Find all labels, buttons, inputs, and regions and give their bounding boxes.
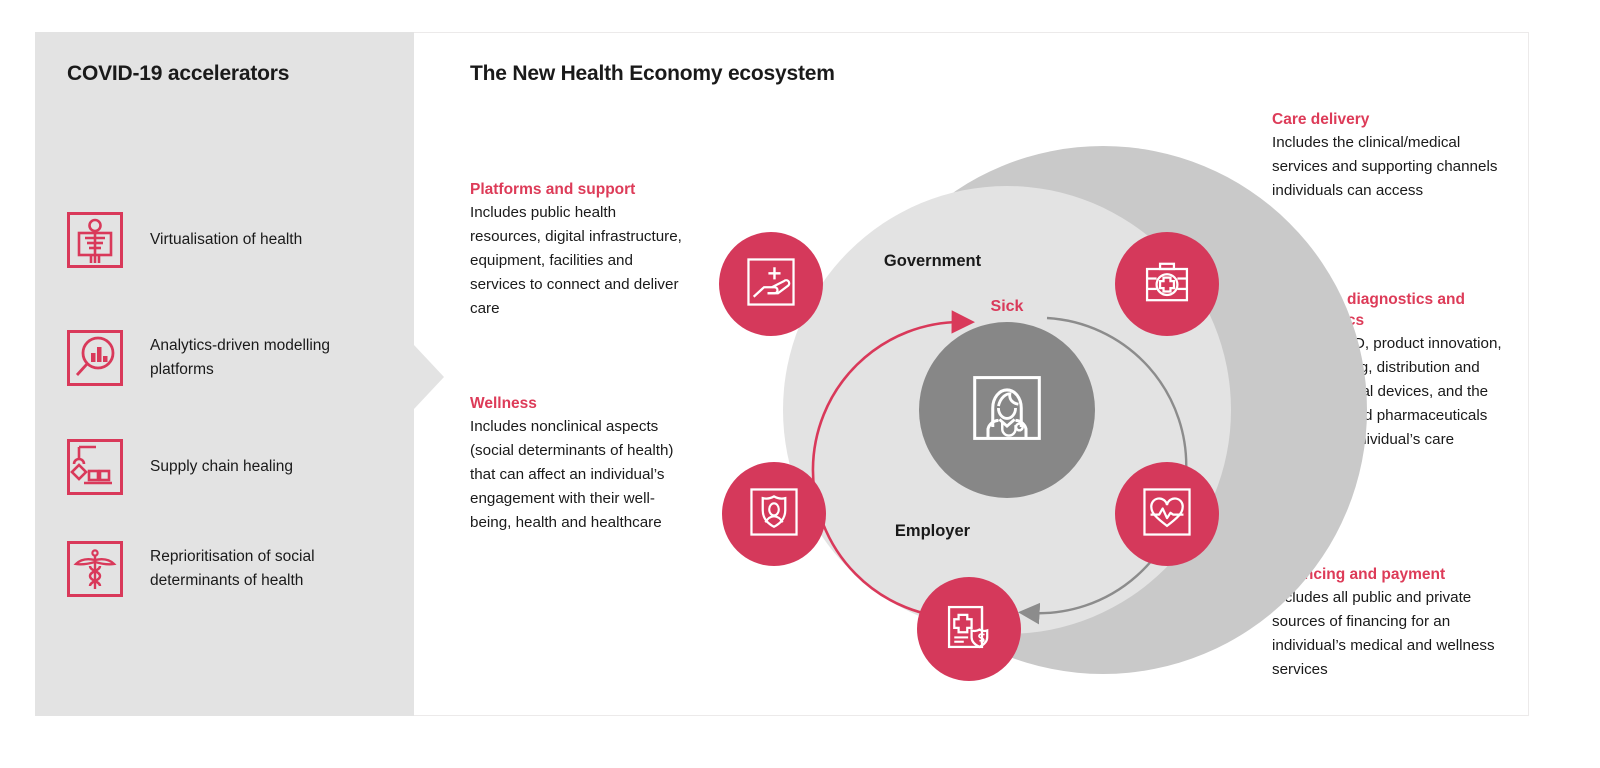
accelerator-label: Reprioritisation of social determinants … [150,545,396,593]
heart-pulse-icon [1141,486,1193,543]
badge-financing-and-payment[interactable] [917,577,1021,681]
caduceus-icon [66,540,124,598]
blurb-body: Includes all public and private sources … [1272,586,1510,682]
badge-wellness[interactable] [722,462,826,566]
health-economy-ecosystem-diagram: Government Employer Sick Well [700,130,1245,690]
accelerator-label: Virtualisation of health [150,228,302,252]
xray-skeleton-icon [66,211,124,269]
medical-kit-cross-icon [1141,256,1193,313]
supply-chain-crane-icon [66,438,124,496]
magnifier-bar-chart-icon [66,329,124,387]
sidebar-title: COVID-19 accelerators [67,62,289,86]
page-title: The New Health Economy ecosystem [470,62,835,86]
shield-person-icon [748,486,800,543]
sidebar-chevron-icon [414,345,444,409]
blurb-title: Care delivery [1272,109,1510,130]
medical-bill-dollar-icon [943,601,995,658]
covid-accelerators-sidebar: COVID-19 accelerators Virtualisation of … [35,32,414,716]
state-label-sick: Sick [962,298,1052,316]
badge-vaccines-diagnostics-therapeutics[interactable] [1115,462,1219,566]
accelerator-item-supply-chain[interactable]: Supply chain healing [66,438,396,496]
hand-with-cross-icon [745,256,797,313]
accelerator-label: Analytics-driven modelling platforms [150,334,396,382]
diagram-hub [919,322,1095,498]
accelerator-item-social-determinants[interactable]: Reprioritisation of social determinants … [66,540,396,598]
blurb-body: Includes public health resources, digita… [470,201,686,321]
accelerator-label: Supply chain healing [150,455,293,479]
blurb-wellness: Wellness Includes nonclinical aspects (s… [470,393,675,535]
blurb-care-delivery: Care delivery Includes the clinical/medi… [1272,109,1510,203]
blurb-body: Includes the clinical/medical services a… [1272,131,1510,203]
blurb-platforms-and-support: Platforms and support Includes public he… [470,179,686,321]
accelerator-item-virtualisation[interactable]: Virtualisation of health [66,211,396,269]
badge-platforms-and-support[interactable] [719,232,823,336]
badge-care-delivery[interactable] [1115,232,1219,336]
clinician-portrait-icon [969,370,1045,451]
blurb-body: Includes nonclinical aspects (social det… [470,415,675,535]
accelerator-item-analytics[interactable]: Analytics-driven modelling platforms [66,329,396,387]
blurb-title: Platforms and support [470,179,686,200]
blurb-financing-and-payment: Financing and payment Includes all publi… [1272,564,1510,682]
blurb-title: Wellness [470,393,675,414]
